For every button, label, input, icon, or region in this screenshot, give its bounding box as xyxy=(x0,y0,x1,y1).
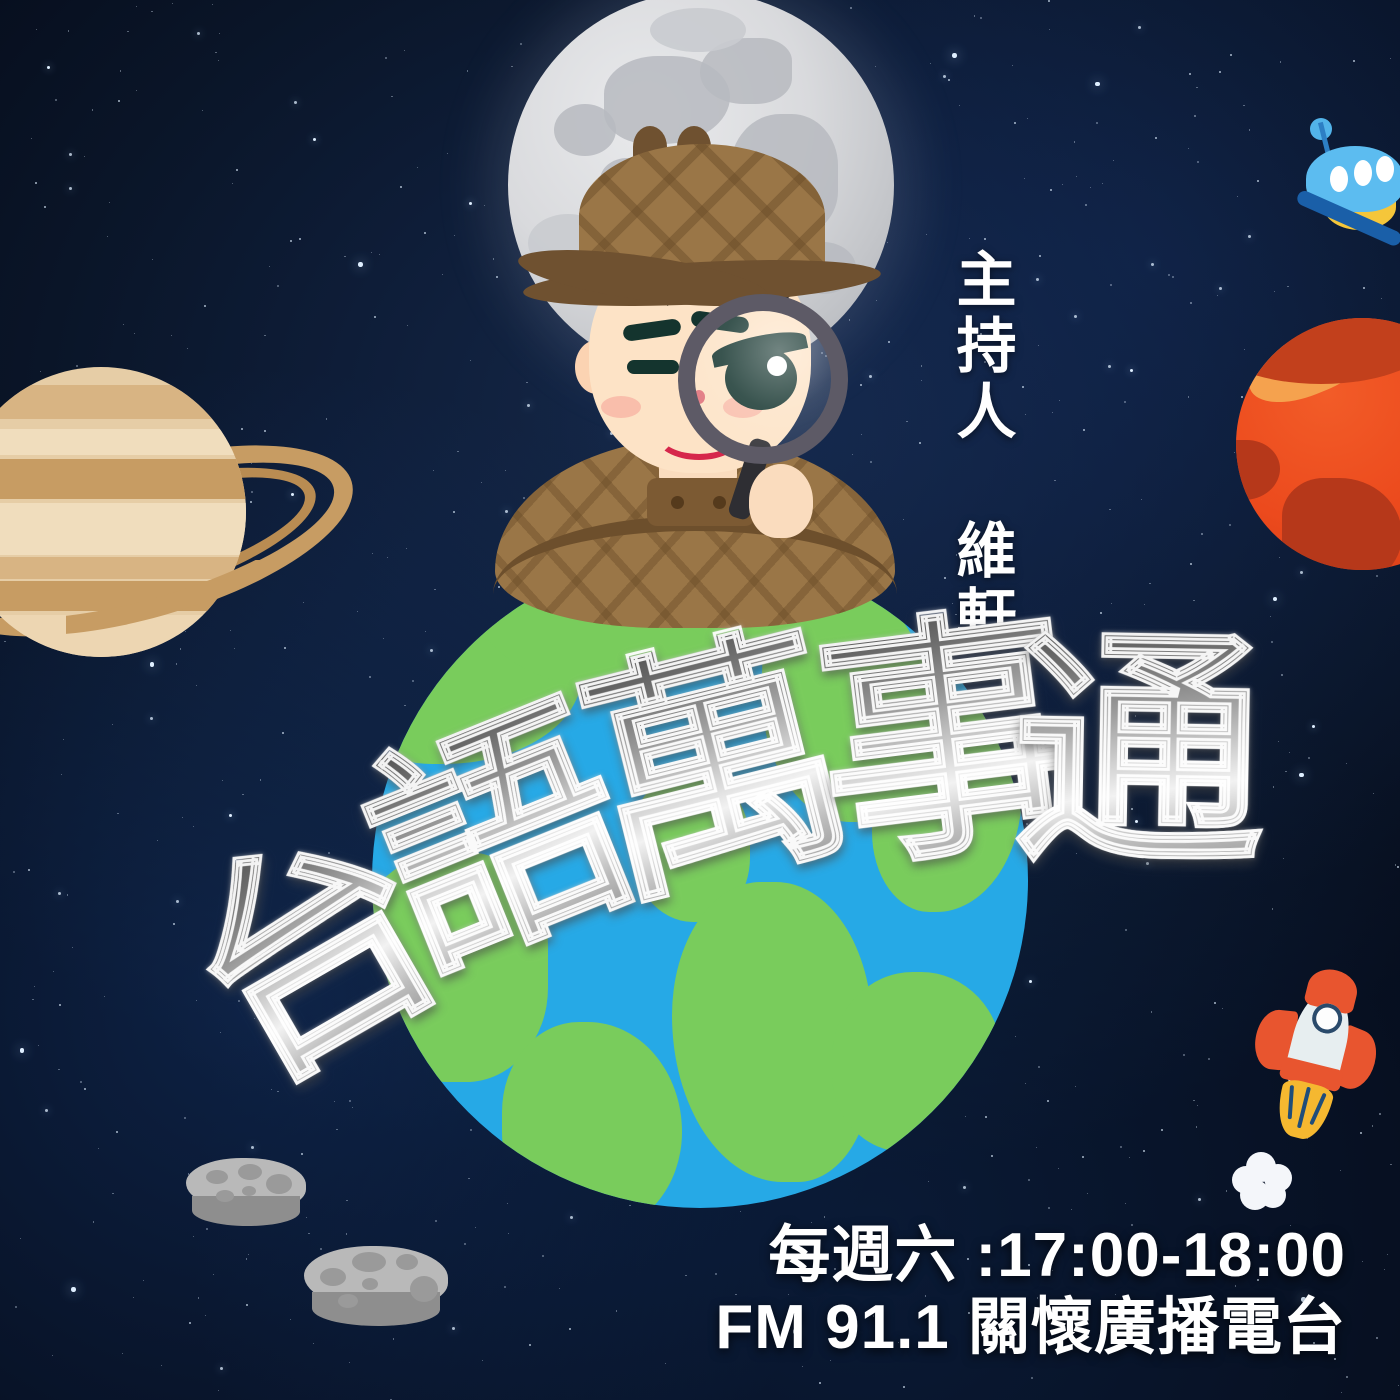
rocket-icon xyxy=(1234,955,1400,1148)
smoke-puff xyxy=(1232,1152,1294,1214)
ufo-icon xyxy=(1296,122,1400,246)
asteroid-small xyxy=(186,1158,306,1232)
broadcast-info: 每週六 :17:00-18:00 FM 91.1 關懷廣播電台 xyxy=(715,1220,1346,1364)
cheek-left xyxy=(601,396,641,418)
station-text: FM 91.1 關懷廣播電台 xyxy=(715,1292,1346,1364)
magnifying-glass-icon xyxy=(678,294,848,464)
title-char-5: 通 xyxy=(1012,626,1266,880)
eye-closed xyxy=(627,360,679,374)
detective-hand xyxy=(749,464,813,538)
host-label: 主持人 維軒 xyxy=(916,248,1012,651)
schedule-text: 每週六 :17:00-18:00 xyxy=(715,1220,1346,1292)
saturn-planet xyxy=(0,345,358,665)
podcast-cover-art: 主持人 維軒 台 語 萬 事 通 xyxy=(0,0,1400,1400)
saturn-ring-front xyxy=(66,560,366,636)
asteroid-large xyxy=(304,1246,448,1336)
mars-planet xyxy=(1236,318,1400,570)
detective-character xyxy=(487,108,907,628)
